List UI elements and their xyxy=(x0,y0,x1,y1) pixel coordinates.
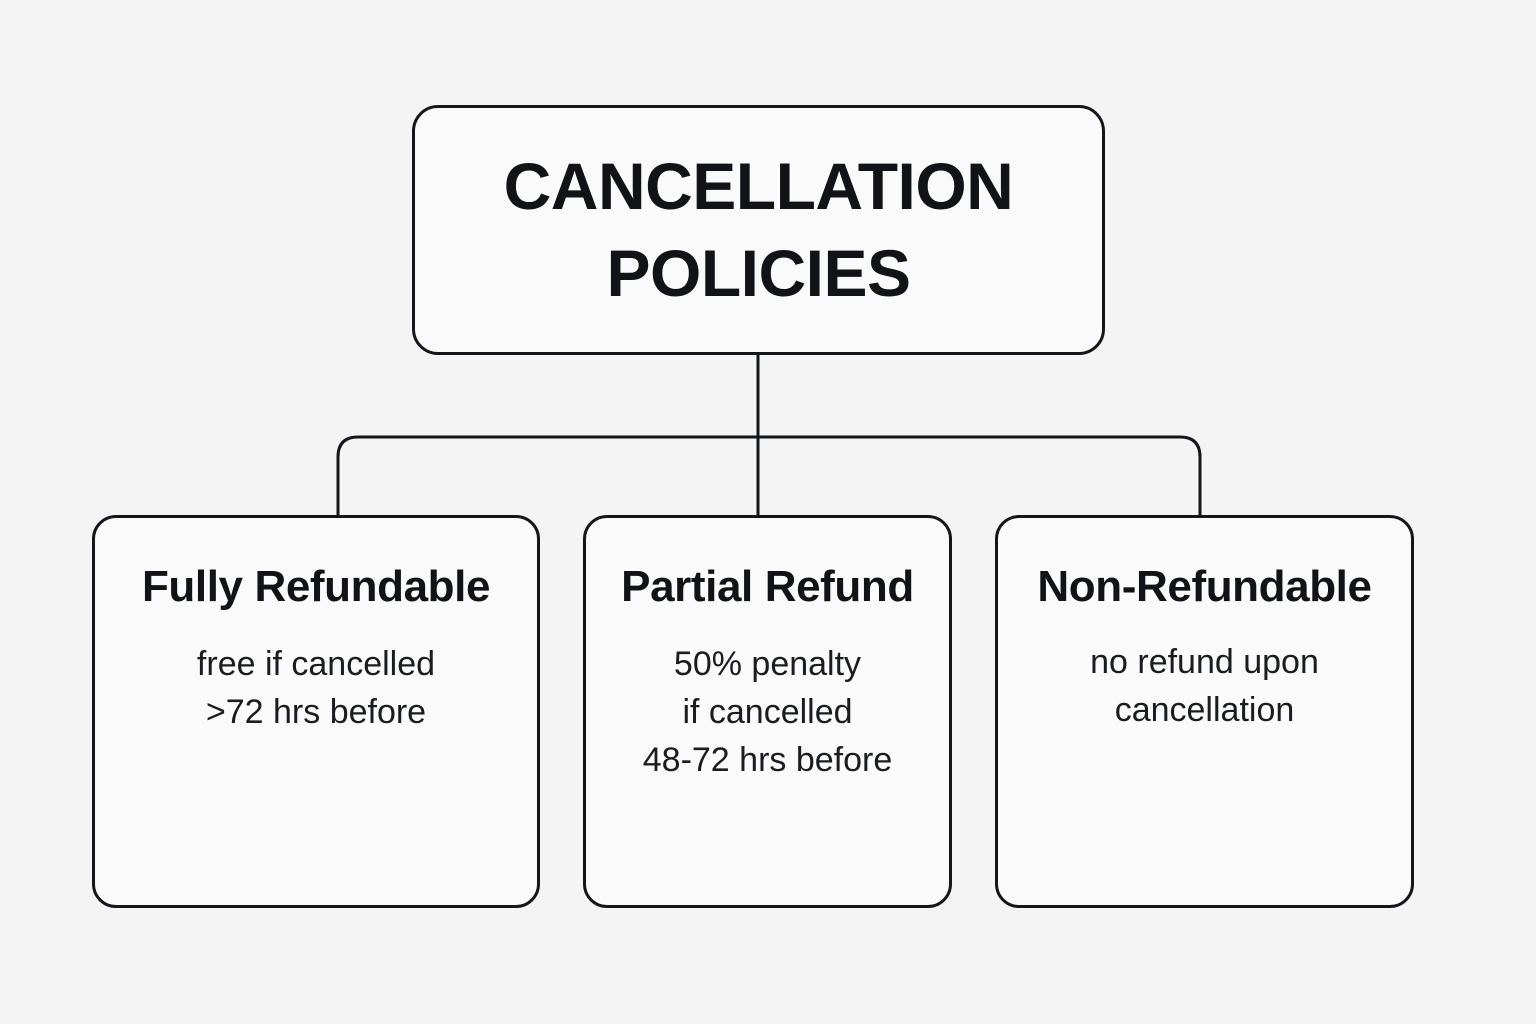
connector-bus-left xyxy=(338,437,758,515)
node-title: Fully Refundable xyxy=(142,556,490,618)
node-fully-refundable[interactable]: Fully Refundable free if cancelled>72 hr… xyxy=(92,515,540,908)
node-description: 50% penaltyif cancelled48-72 hrs before xyxy=(643,640,893,785)
cancellation-policies-diagram: CANCELLATION POLICIES Fully Refundable f… xyxy=(0,0,1536,1024)
node-title: Partial Refund xyxy=(621,556,914,618)
node-non-refundable[interactable]: Non-Refundable no refund uponcancellatio… xyxy=(995,515,1414,908)
node-description: free if cancelled>72 hrs before xyxy=(197,640,435,737)
connector-bus-right xyxy=(758,437,1200,515)
root-title: CANCELLATION POLICIES xyxy=(415,143,1102,317)
node-title: Non-Refundable xyxy=(1037,556,1371,618)
node-root[interactable]: CANCELLATION POLICIES xyxy=(412,105,1105,355)
node-description: no refund uponcancellation xyxy=(1090,638,1319,735)
node-partial-refund[interactable]: Partial Refund 50% penaltyif cancelled48… xyxy=(583,515,952,908)
